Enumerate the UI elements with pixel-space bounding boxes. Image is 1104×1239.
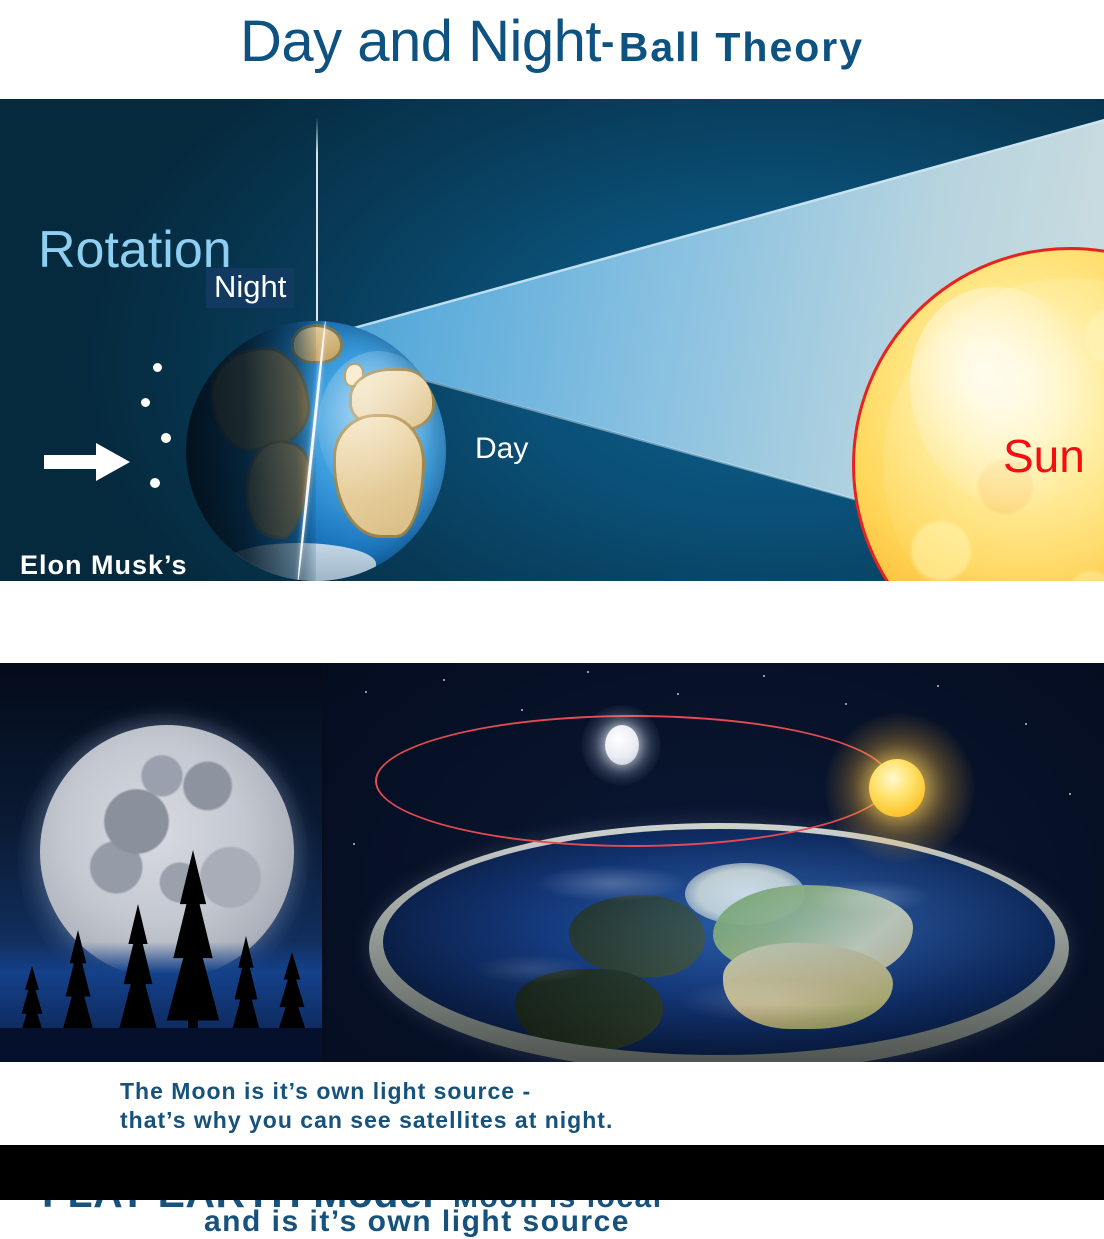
caption-text: The Moon is it’s own light source - that… — [120, 1077, 613, 1135]
night-label-box: Night — [206, 268, 294, 308]
flat-earth-header: FLAT EARTH Model - Moon is local and is … — [0, 581, 1104, 663]
flat-earth-disc-surface — [383, 829, 1055, 1055]
treeline-base — [0, 1028, 322, 1062]
star — [443, 679, 445, 681]
page-title-sub: Ball Theory — [619, 24, 864, 70]
satellite-dot — [153, 363, 162, 372]
star — [677, 693, 679, 695]
page-title-dash: - — [601, 20, 614, 64]
star — [521, 709, 523, 711]
star — [365, 691, 367, 693]
star — [937, 685, 939, 687]
ocean-shading — [383, 829, 1055, 1055]
footer-bar — [0, 1145, 1104, 1200]
sun-icon — [869, 759, 925, 817]
sun-label: Sun — [1003, 429, 1085, 483]
flat-earth-illustration — [325, 663, 1104, 1062]
earth-globe-icon — [186, 321, 446, 581]
satellite-dot — [141, 398, 150, 407]
earth-night-side — [186, 321, 316, 581]
page-title: Day and Night- Ball Theory — [0, 8, 1104, 75]
ball-theory-illustration: Sun Rotation Night Day Elon Musk’s Satel… — [0, 99, 1104, 581]
star — [1069, 793, 1071, 795]
star — [763, 675, 765, 677]
night-label: Night — [214, 269, 286, 304]
day-label: Day — [475, 432, 528, 466]
star — [845, 703, 847, 705]
rotation-label: Rotation — [38, 220, 232, 280]
title-bar: Day and Night- Ball Theory — [0, 0, 1104, 98]
earth-highlight — [318, 351, 438, 501]
right-arrow-icon — [44, 439, 130, 485]
star — [1025, 723, 1027, 725]
satellite-dot — [150, 478, 160, 488]
satellites-note: Elon Musk’s Satellites Visible at Night — [20, 549, 231, 581]
satellite-dot — [161, 433, 171, 443]
page-title-main: Day and Night — [240, 9, 601, 74]
moon-photo — [0, 663, 322, 1062]
moon-icon — [605, 725, 639, 765]
star — [353, 843, 355, 845]
flat-earth-title-sub-line2: and is it’s own light source — [204, 1205, 630, 1239]
star — [587, 671, 589, 673]
bottom-image-row — [0, 663, 1104, 1062]
